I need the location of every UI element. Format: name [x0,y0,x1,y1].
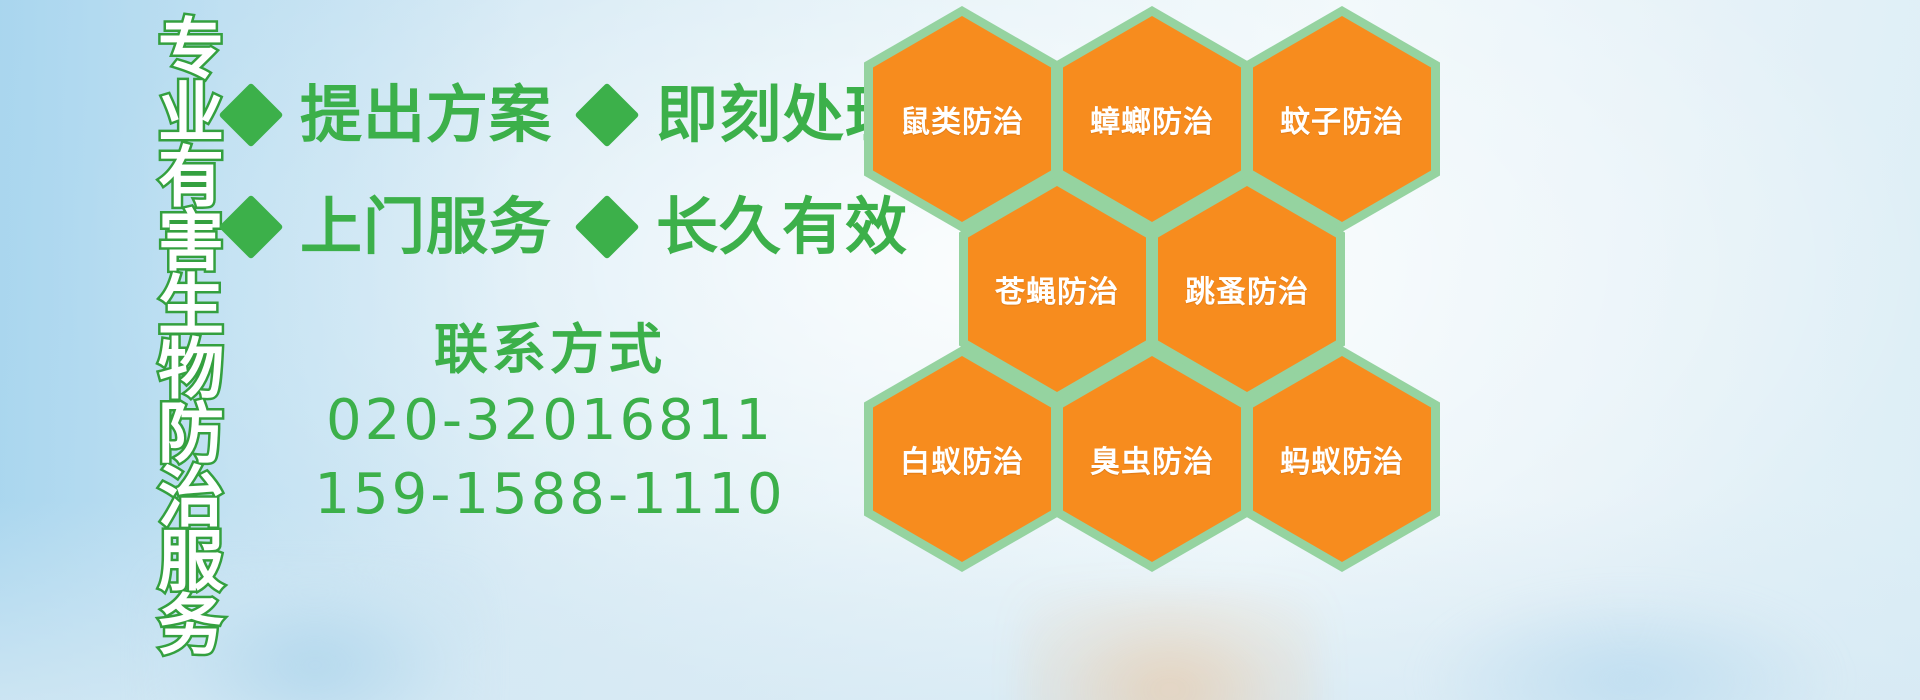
phone-number-mobile[interactable]: 159-1588-1110 [300,458,800,532]
feature-proposal: 提出方案 [300,84,552,146]
hex-label: 臭虫防治 [1090,437,1214,481]
vertical-headline: 专业有害生物防治服务 [104,14,216,574]
feature-row-top: 提出方案 即刻处理 [228,84,908,146]
contact-label: 联系方式 [300,316,800,384]
feature-row-bottom: 上门服务 长久有效 [228,196,908,258]
hex-label: 蚂蚁防治 [1280,437,1404,481]
hex-label: 蟑螂防治 [1090,97,1214,141]
contact-block: 联系方式 020-32016811 159-1588-1110 [300,316,800,532]
hex-label: 鼠类防治 [900,97,1024,141]
hex-label: 苍蝇防治 [995,267,1119,311]
hex-label: 白蚁防治 [900,437,1024,481]
background-blob-orange [1020,590,1320,700]
background-blob-right [1420,590,1840,700]
diamond-bullet-icon [574,194,639,259]
service-hexagon-grid: 鼠类防治 蟑螂防治 蚊子防治 苍蝇防治 跳蚤防治 白蚁防治 臭虫防治 蚂蚁防治 [856,0,1456,558]
phone-number-landline[interactable]: 020-32016811 [300,384,800,458]
diamond-bullet-icon [218,194,283,259]
hex-label: 蚊子防治 [1280,97,1404,141]
diamond-bullet-icon [218,82,283,147]
feature-onsite-service: 上门服务 [300,196,552,258]
diamond-bullet-icon [574,82,639,147]
hex-label: 跳蚤防治 [1185,267,1309,311]
